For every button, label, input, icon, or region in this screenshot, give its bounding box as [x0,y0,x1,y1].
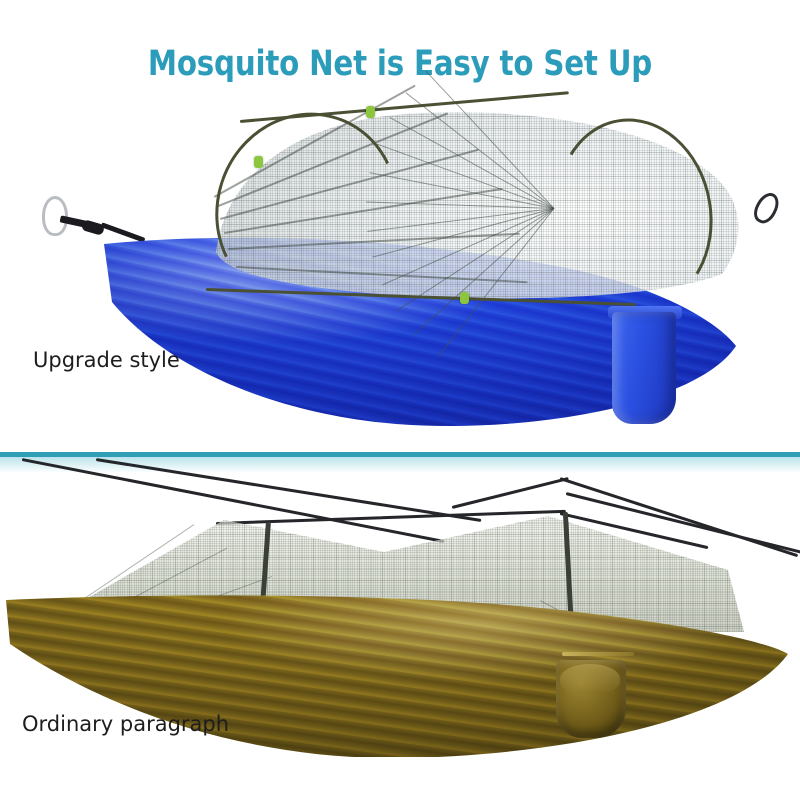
caption-upgrade-style: Upgrade style [33,348,180,372]
pocket-zipper [562,652,634,656]
blue-hammock-photo: Upgrade style [0,0,800,452]
pocket-fold [560,664,620,694]
blue-stuff-sack-pocket [612,312,676,424]
carabiner-dark-icon [750,189,784,227]
panel-upgrade-style: Upgrade style [0,0,800,452]
product-comparison-image: Mosquito Net is Easy to Set Up [0,0,800,800]
caption-ordinary-paragraph: Ordinary paragraph [22,712,229,736]
net-clip-icon [366,106,375,118]
net-clip-icon [460,292,469,304]
net-clip-icon [254,156,263,168]
suspension-cord-left-tail [101,222,146,242]
